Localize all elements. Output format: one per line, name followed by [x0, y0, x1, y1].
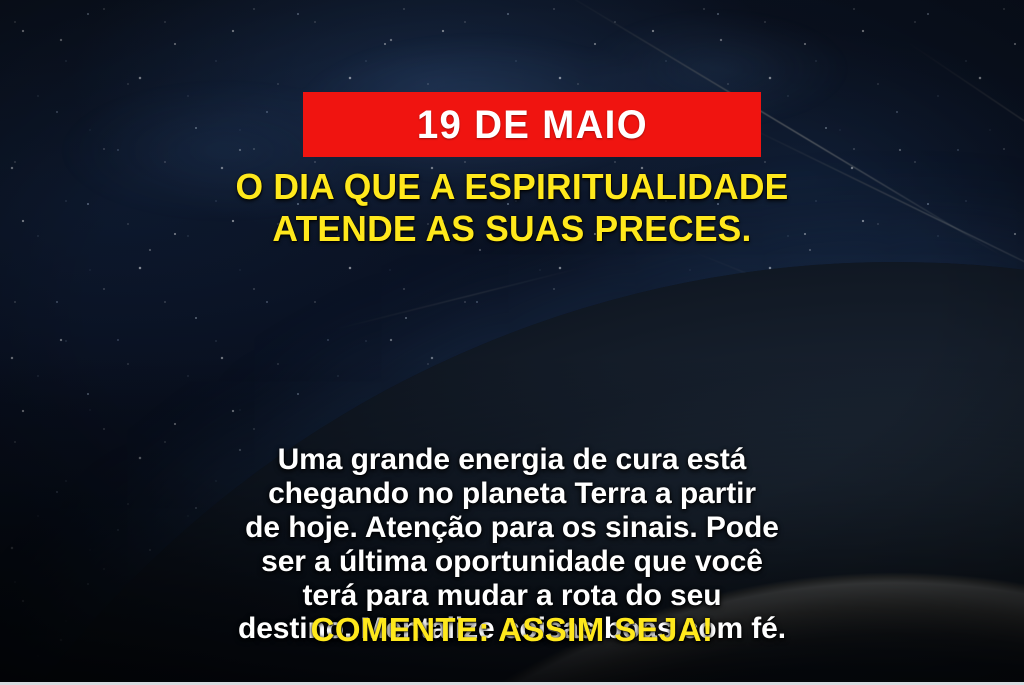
body-line-5: terá para mudar a rota do seu	[0, 579, 1024, 613]
date-banner-label: 19 DE MAIO	[416, 105, 647, 145]
body-line-3: de hoje. Atenção para os sinais. Pode	[0, 511, 1024, 545]
call-to-action: COMENTE: ASSIM SEJA!	[0, 613, 1024, 646]
headline-line-2: ATENDE AS SUAS PRECES.	[8, 208, 1017, 250]
poster-content: 19 DE MAIO O DIA QUE A ESPIRITUALIDADE A…	[0, 0, 1024, 685]
headline: O DIA QUE A ESPIRITUALIDADE ATENDE AS SU…	[0, 166, 1024, 250]
date-banner: 19 DE MAIO	[303, 92, 761, 157]
body-line-1: Uma grande energia de cura está	[0, 443, 1024, 477]
headline-line-1: O DIA QUE A ESPIRITUALIDADE	[8, 166, 1017, 208]
poster-canvas: 19 DE MAIO O DIA QUE A ESPIRITUALIDADE A…	[0, 0, 1024, 685]
body-line-2: chegando no planeta Terra a partir	[0, 477, 1024, 511]
body-line-4: ser a última oportunidade que você	[0, 545, 1024, 579]
